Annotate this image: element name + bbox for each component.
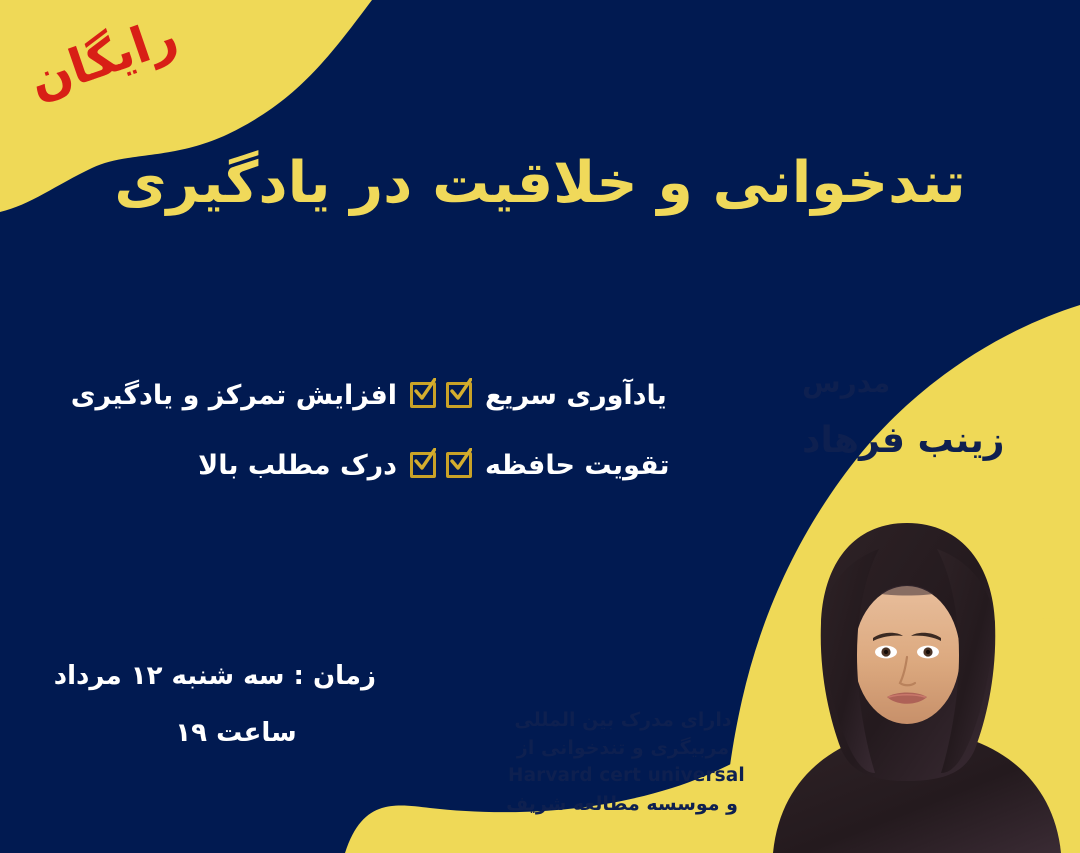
feature-label: یادآوری سریع bbox=[485, 382, 667, 409]
instructor-photo bbox=[755, 505, 1080, 853]
credential-line: و موسسه مطالعه شریف bbox=[508, 790, 738, 818]
feature-label: افزایش تمرکز و یادگیری bbox=[71, 382, 397, 409]
checked-checkbox-icon bbox=[410, 452, 436, 478]
poster-title-text: تندخوانی و خلاقیت در یادگیری bbox=[114, 148, 965, 219]
schedule-block: زمان : سه شنبه ۱۲ مرداد ساعت ۱۹ bbox=[96, 662, 376, 747]
schedule-time: ساعت ۱۹ bbox=[96, 719, 376, 748]
credential-line: Harvard cert universal bbox=[508, 762, 738, 789]
checked-checkbox-icon bbox=[446, 452, 472, 478]
feature-item: تقویت حافظه bbox=[440, 430, 770, 500]
credentials-block: دارای مدرک بین المللی مربیگری و تندخوانی… bbox=[508, 706, 738, 818]
feature-item: یادآوری سریع bbox=[440, 360, 770, 430]
credential-line: مربیگری و تندخوانی از bbox=[508, 734, 738, 762]
feature-item: درک مطلب بالا bbox=[110, 430, 440, 500]
instructor-name: زینب فرهاد bbox=[802, 421, 1052, 461]
instructor-block: مدرس زینب فرهاد bbox=[802, 368, 1052, 460]
credential-line: دارای مدرک بین المللی bbox=[508, 706, 738, 734]
poster-title: تندخوانی و خلاقیت در یادگیری bbox=[0, 148, 1080, 219]
instructor-role-label: مدرس bbox=[802, 368, 1052, 399]
feature-label: درک مطلب بالا bbox=[198, 452, 397, 479]
checked-checkbox-icon bbox=[410, 382, 436, 408]
feature-label: تقویت حافظه bbox=[485, 452, 670, 479]
feature-item: افزایش تمرکز و یادگیری bbox=[110, 360, 440, 430]
schedule-date: زمان : سه شنبه ۱۲ مرداد bbox=[96, 662, 376, 691]
checked-checkbox-icon bbox=[446, 382, 472, 408]
feature-list: یادآوری سریع افزایش تمرکز و یادگیری تقوی… bbox=[110, 360, 770, 500]
course-poster: رایگان تندخوانی و خلاقیت در یادگیری یادآ… bbox=[0, 0, 1080, 853]
